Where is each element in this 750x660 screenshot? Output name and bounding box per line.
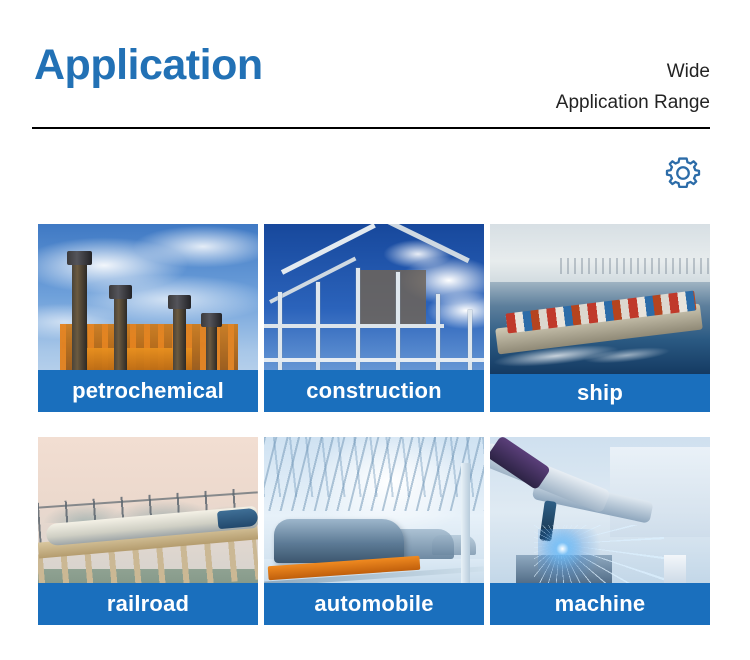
application-card-petrochemical[interactable]: petrochemical [38, 224, 258, 412]
card-caption: railroad [38, 583, 258, 625]
container-ship-photo [490, 224, 710, 374]
card-caption: machine [490, 583, 710, 625]
section-header: Application Wide Application Range [0, 0, 750, 140]
card-caption: construction [264, 370, 484, 412]
application-section: Application Wide Application Range [0, 0, 750, 660]
header-divider [32, 127, 710, 129]
application-card-automobile[interactable]: automobile [264, 437, 484, 625]
application-card-construction[interactable]: construction [264, 224, 484, 412]
application-card-railroad[interactable]: railroad [38, 437, 258, 625]
gear-icon[interactable] [662, 152, 704, 194]
application-card-grid: petrochemical [38, 224, 710, 625]
subtitle-line-2: Application Range [410, 87, 710, 118]
card-caption: petrochemical [38, 370, 258, 412]
section-subtitle: Wide Application Range [410, 56, 710, 118]
card-caption: ship [490, 374, 710, 412]
subtitle-line-1: Wide [410, 56, 710, 87]
application-card-ship[interactable]: ship [490, 224, 710, 412]
application-card-machine[interactable]: machine [490, 437, 710, 625]
card-caption: automobile [264, 583, 484, 625]
page-title: Application [34, 44, 263, 87]
